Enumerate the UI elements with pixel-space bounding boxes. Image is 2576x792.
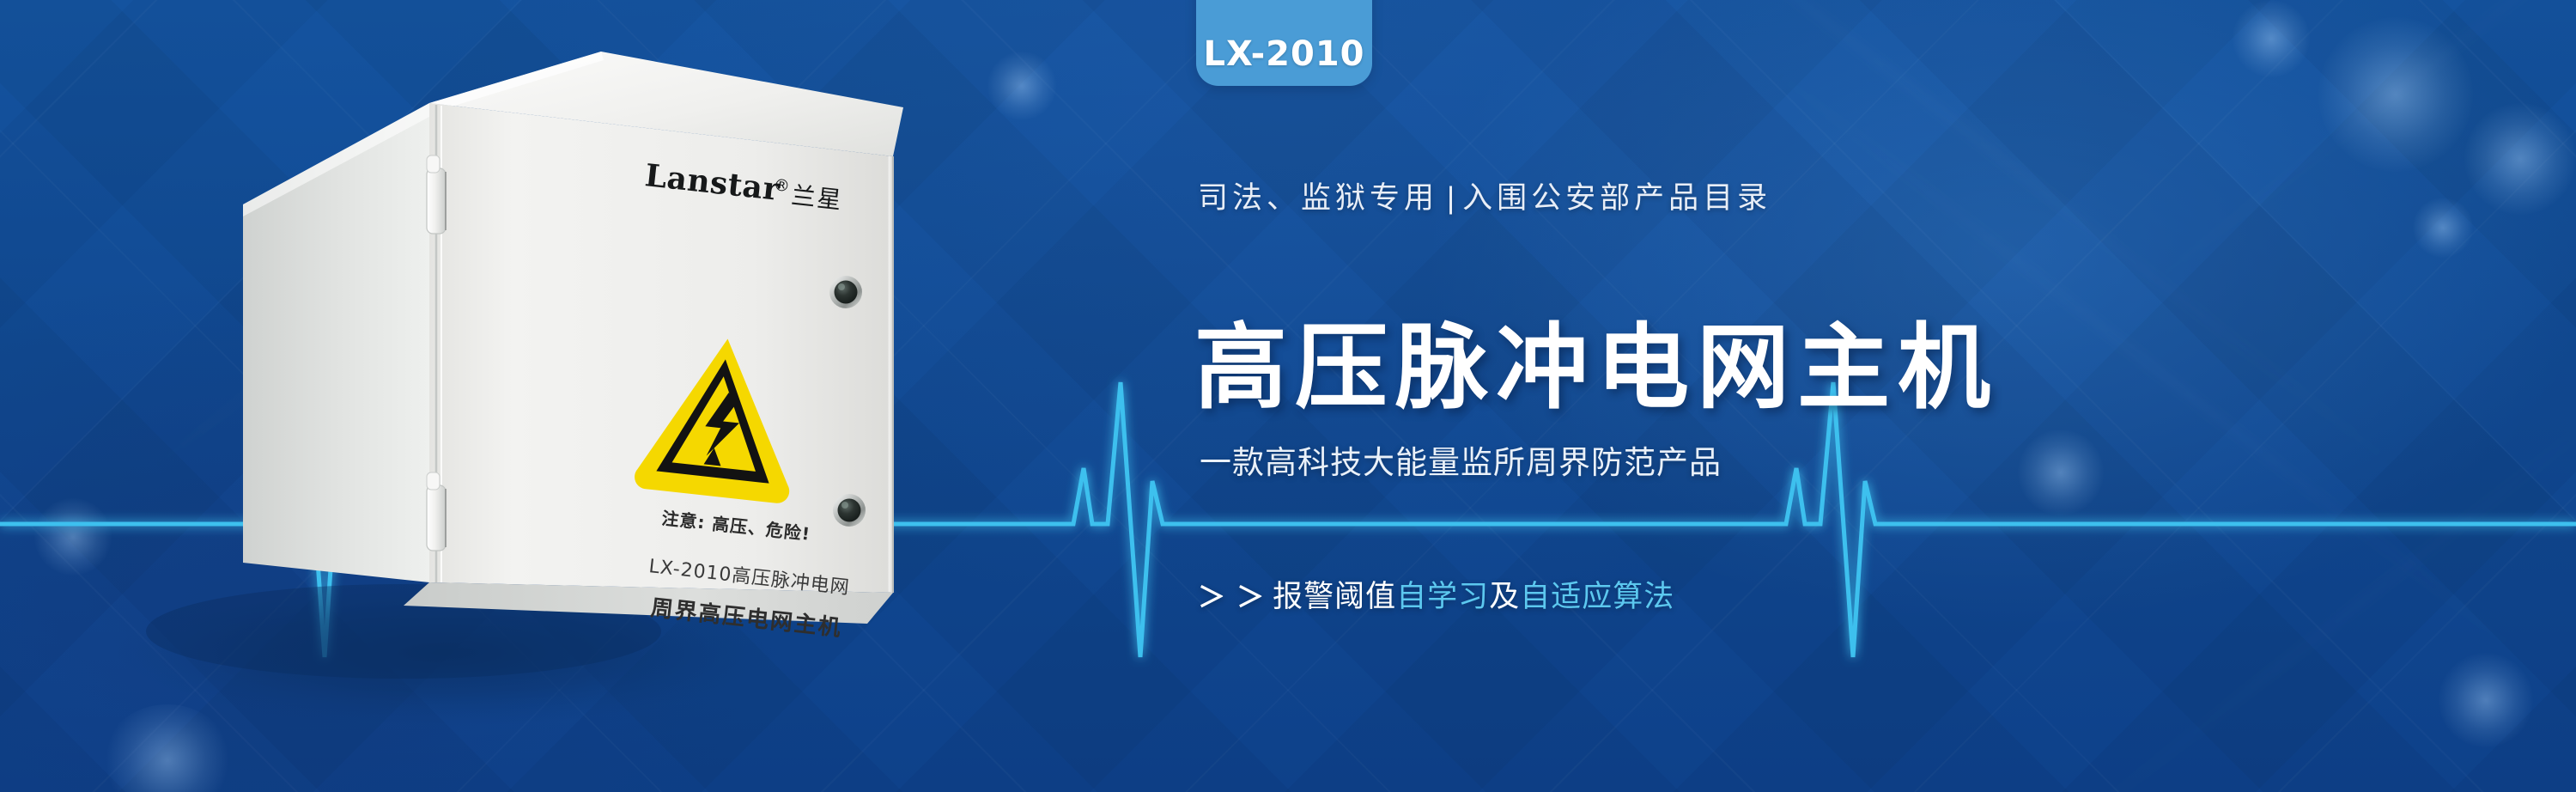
feature-text-part2: 及 bbox=[1489, 580, 1520, 613]
feature-line: ＞ ＞报警阈值自学习及自适应算法 bbox=[1198, 572, 1674, 616]
indicator-lamp bbox=[833, 494, 866, 527]
page-title: 高压脉冲电网主机 bbox=[1194, 320, 1998, 417]
indicator-lamp bbox=[829, 276, 862, 308]
hero-text-column: 司法、监狱专用|入围公安部产品目录 高压脉冲电网主机 一款高科技大能量监所周界防… bbox=[1198, 0, 2537, 792]
feature-highlight-adaptive-algorithm: 自适应算法 bbox=[1520, 580, 1674, 613]
feature-highlight-self-learning: 自学习 bbox=[1396, 580, 1489, 613]
product-hero-banner: Lanstar ® 兰星 注意: 高压、危险! LX-2010高压脉冲电网 周界… bbox=[0, 0, 2576, 792]
product-cabinet-image: Lanstar ® 兰星 注意: 高压、危险! LX-2010高压脉冲电网 周界… bbox=[0, 0, 1202, 792]
chevron-right-icon: ＞ ＞ bbox=[1198, 576, 1265, 615]
eyebrow-left-text: 司法、监狱专用 bbox=[1198, 181, 1438, 215]
svg-text:兰星: 兰星 bbox=[790, 181, 844, 215]
svg-text:®: ® bbox=[773, 175, 791, 196]
eyebrow-line: 司法、监狱专用|入围公安部产品目录 bbox=[1198, 174, 1771, 217]
eyebrow-right-text: 入围公安部产品目录 bbox=[1462, 181, 1771, 215]
eyebrow-separator: | bbox=[1447, 181, 1459, 216]
tagline: 一款高科技大能量监所周界防范产品 bbox=[1200, 436, 1722, 483]
feature-text-part1: 报警阈值 bbox=[1273, 580, 1396, 613]
